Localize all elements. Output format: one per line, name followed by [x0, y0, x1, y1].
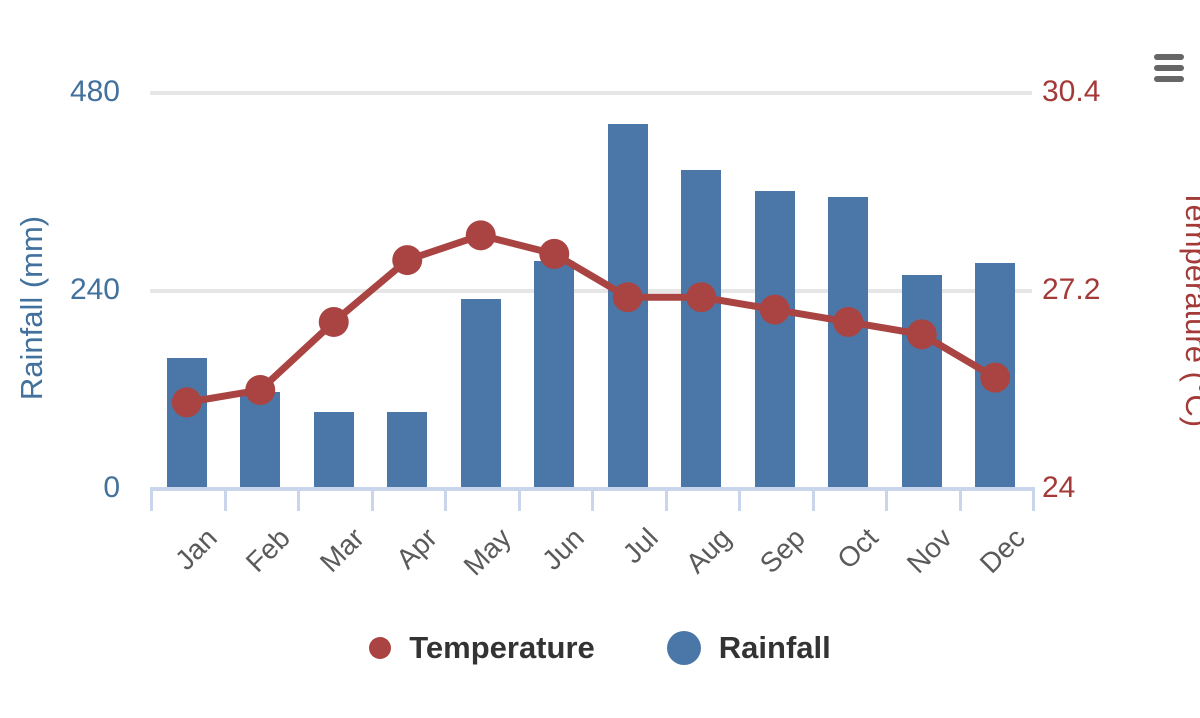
legend-item-rainfall[interactable]: Rainfall	[667, 630, 831, 666]
y-axis-right-tick-label: 24	[1042, 473, 1182, 503]
climate-chart: Rainfall (mm) Temperature (°C) 0240480 2…	[0, 0, 1200, 718]
y-axis-left-tick-label: 480	[0, 77, 120, 107]
bar-jun[interactable]	[534, 261, 574, 489]
y-axis-left-title: Rainfall (mm)	[14, 158, 50, 458]
x-axis-tick	[444, 487, 447, 511]
bar-feb[interactable]	[240, 392, 280, 489]
x-axis-tick	[297, 487, 300, 511]
x-axis-tick	[885, 487, 888, 511]
hamburger-bar-1	[1154, 54, 1184, 60]
bar-jul[interactable]	[608, 124, 648, 489]
x-axis-tick	[150, 487, 153, 511]
y-axis-left-tick-label: 0	[0, 473, 120, 503]
bar-jan[interactable]	[167, 358, 207, 489]
y-axis-right-title: Temperature (°C)	[1178, 158, 1200, 458]
bar-oct[interactable]	[828, 197, 868, 489]
legend-marker-temperature-icon	[369, 637, 391, 659]
x-axis-tick	[1032, 487, 1035, 511]
bar-apr[interactable]	[387, 412, 427, 489]
x-axis-tick	[371, 487, 374, 511]
plot-area	[150, 93, 1032, 489]
legend-marker-rainfall-icon	[667, 631, 701, 665]
hamburger-bar-2	[1154, 65, 1184, 71]
bar-nov[interactable]	[902, 275, 942, 489]
y-axis-right-tick-label: 27.2	[1042, 275, 1182, 305]
x-axis-tick	[738, 487, 741, 511]
x-axis-tick	[812, 487, 815, 511]
bar-may[interactable]	[461, 299, 501, 489]
x-axis-tick	[224, 487, 227, 511]
x-axis-tick	[518, 487, 521, 511]
bar-dec[interactable]	[975, 263, 1015, 489]
y-axis-left-tick-label: 240	[0, 275, 120, 305]
x-axis-tick	[665, 487, 668, 511]
gridline	[150, 91, 1032, 95]
bar-aug[interactable]	[681, 170, 721, 489]
legend-label-temperature: Temperature	[409, 630, 595, 666]
y-axis-right-tick-label: 30.4	[1042, 77, 1182, 107]
gridline	[150, 289, 1032, 293]
legend-item-temperature[interactable]: Temperature	[369, 630, 595, 666]
bar-sep[interactable]	[755, 191, 795, 489]
legend-label-rainfall: Rainfall	[719, 630, 831, 666]
bar-mar[interactable]	[314, 412, 354, 489]
x-axis-tick	[959, 487, 962, 511]
x-axis-tick	[591, 487, 594, 511]
legend: Temperature Rainfall	[0, 630, 1200, 666]
